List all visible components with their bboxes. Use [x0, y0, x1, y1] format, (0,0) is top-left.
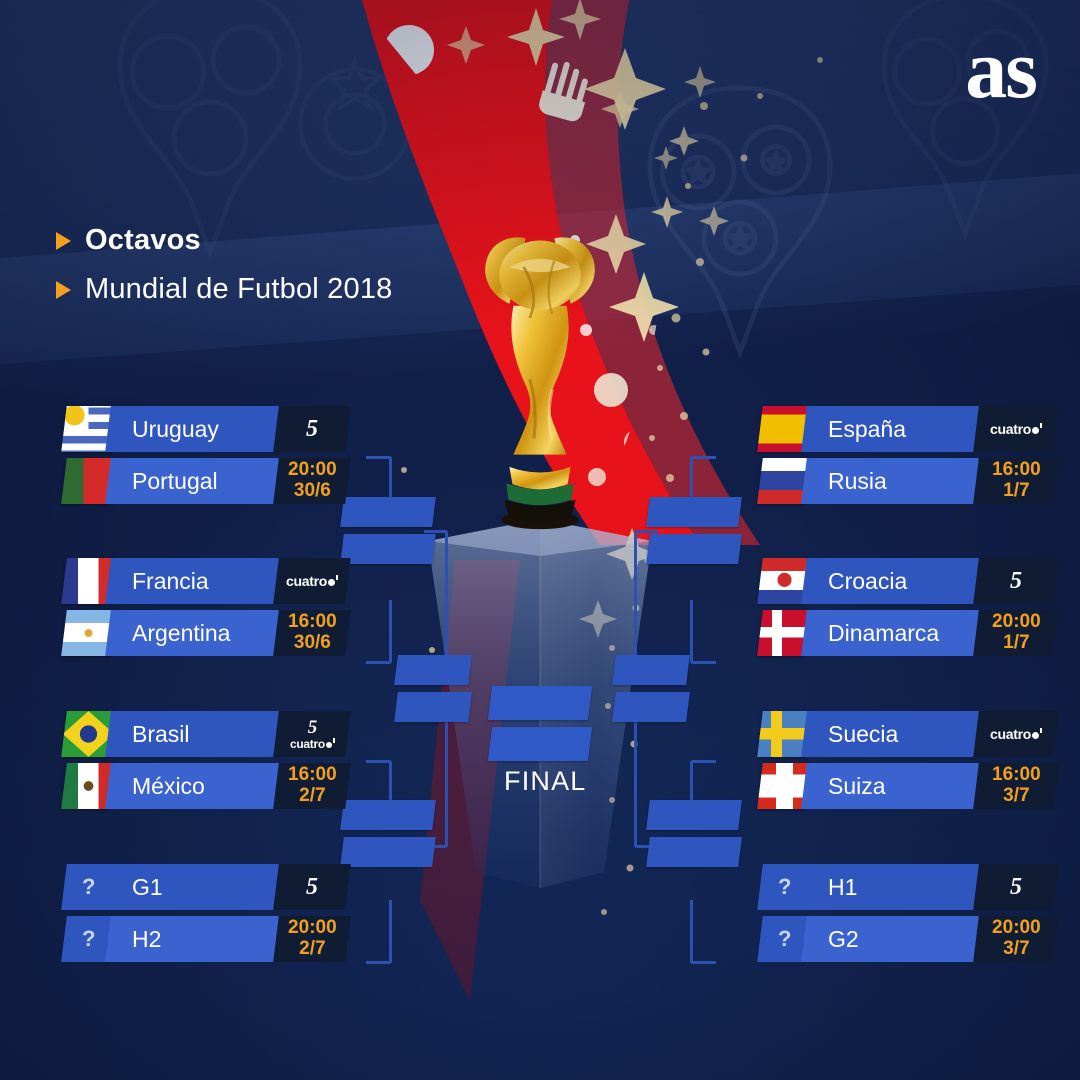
title-line-1-row: Octavos — [56, 224, 393, 257]
connector-r-qf1-bottom — [690, 600, 716, 664]
channel-box: 5 — [273, 864, 351, 910]
slot-bar-bottom — [394, 692, 472, 722]
team-row-bottom[interactable]: México 16:002/7 — [64, 763, 326, 809]
cuatro-logo-icon: cuatro — [990, 422, 1042, 436]
team-name: Rusia — [804, 458, 980, 504]
triangle-right-icon-2 — [56, 281, 71, 299]
kickoff-time: 20:00 — [288, 917, 337, 938]
team-name: España — [804, 406, 980, 452]
team-row-bottom[interactable]: Rusia 16:001/7 — [760, 458, 1022, 504]
telecinco-logo-icon: 5 — [1010, 569, 1022, 593]
team-row-bottom[interactable]: Portugal 20:0030/6 — [64, 458, 326, 504]
kickoff-time: 20:00 — [288, 459, 337, 480]
kickoff-time: 20:00 — [992, 611, 1041, 632]
title-octavos: Octavos — [85, 224, 201, 257]
connector-l-qf1-bottom — [366, 600, 392, 664]
kickoff-date: 1/7 — [1003, 480, 1029, 501]
quarterfinal-slot-right-2[interactable] — [648, 800, 740, 867]
team-name-box: Argentina — [105, 610, 287, 656]
kickoff-date: 2/7 — [299, 938, 325, 959]
team-name-box: H2 — [105, 916, 287, 962]
team-row-bottom[interactable]: ? H2 20:002/7 — [64, 916, 326, 962]
kickoff-time: 20:00 — [992, 917, 1041, 938]
team-row-top[interactable]: Francia cuatro — [64, 558, 326, 604]
kickoff-date: 3/7 — [1003, 938, 1029, 959]
team-name: Uruguay — [108, 406, 284, 452]
slot-bar-top — [340, 800, 436, 830]
team-name: Portugal — [108, 458, 284, 504]
page-title: Octavos Mundial de Futbol 2018 — [56, 224, 393, 306]
title-tournament: Mundial de Futbol 2018 — [85, 273, 393, 306]
slot-bar-top — [394, 655, 472, 685]
team-row-top[interactable]: España cuatro — [760, 406, 1022, 452]
team-name: G2 — [804, 916, 980, 962]
title-line-2-row: Mundial de Futbol 2018 — [56, 273, 393, 306]
slot-bar-bottom — [646, 534, 742, 564]
team-name-box: Suecia — [801, 711, 983, 757]
kickoff-time: 16:00 — [992, 459, 1041, 480]
team-name: H1 — [804, 864, 980, 910]
kickoff-date: 30/6 — [294, 480, 331, 501]
team-name: Croacia — [804, 558, 980, 604]
kickoff-box: 20:001/7 — [973, 610, 1059, 656]
team-name-box: G2 — [801, 916, 983, 962]
kickoff-box: 16:003/7 — [973, 763, 1059, 809]
team-name-box: Dinamarca — [801, 610, 983, 656]
match-espana-rusia[interactable]: España cuatro Rusia 16:001/7 — [760, 406, 1022, 510]
cuatro-logo-icon: cuatro — [290, 738, 335, 750]
kickoff-time: 16:00 — [288, 764, 337, 785]
slot-bar-top — [646, 800, 742, 830]
team-row-bottom[interactable]: ? G2 20:003/7 — [760, 916, 1022, 962]
kickoff-box: 20:002/7 — [273, 916, 351, 962]
semifinal-slot-left[interactable] — [396, 655, 470, 722]
team-row-top[interactable]: Suecia cuatro — [760, 711, 1022, 757]
team-name-box: Suiza — [801, 763, 983, 809]
telecinco-logo-icon: 5 — [306, 417, 318, 441]
match-suecia-suiza[interactable]: Suecia cuatro Suiza 16:003/7 — [760, 711, 1022, 815]
channel-box: 5 — [273, 406, 351, 452]
channel-box: 5 — [973, 558, 1059, 604]
team-name-box: Brasil — [105, 711, 287, 757]
team-name: Argentina — [108, 610, 284, 656]
team-name: Suiza — [804, 763, 980, 809]
quarterfinal-slot-right-1[interactable] — [648, 497, 740, 564]
kickoff-date: 2/7 — [299, 785, 325, 806]
team-row-top[interactable]: Brasil 5 cuatro — [64, 711, 326, 757]
team-name-box: México — [105, 763, 287, 809]
team-name-box: Portugal — [105, 458, 287, 504]
match-h1-g2[interactable]: ? H1 5 ? G2 20:003/7 — [760, 864, 1022, 968]
connector-l-qf2-bottom — [366, 900, 392, 964]
match-g1-h2[interactable]: ? G1 5 ? H2 20:002/7 — [64, 864, 326, 968]
cuatro-logo-icon: cuatro — [990, 727, 1042, 741]
kickoff-box: 16:001/7 — [973, 458, 1059, 504]
final-bar-top — [488, 686, 592, 720]
kickoff-date: 1/7 — [1003, 632, 1029, 653]
kickoff-time: 16:00 — [288, 611, 337, 632]
final-bar-bottom — [488, 727, 592, 761]
as-logo[interactable]: as — [965, 32, 1036, 108]
final-slot[interactable] — [490, 686, 590, 761]
kickoff-date: 3/7 — [1003, 785, 1029, 806]
team-row-top[interactable]: Uruguay 5 — [64, 406, 326, 452]
kickoff-time: 16:00 — [992, 764, 1041, 785]
team-name-box: España — [801, 406, 983, 452]
slot-bar-bottom — [612, 692, 690, 722]
team-name: México — [108, 763, 284, 809]
channel-box: cuatro — [973, 406, 1059, 452]
slot-bar-bottom — [646, 837, 742, 867]
team-name: Suecia — [804, 711, 980, 757]
team-row-top[interactable]: ? H1 5 — [760, 864, 1022, 910]
cuatro-logo-icon: cuatro — [286, 574, 338, 588]
slot-bar-bottom — [340, 837, 436, 867]
channel-box: 5 — [973, 864, 1059, 910]
team-row-top[interactable]: ? G1 5 — [64, 864, 326, 910]
infographic-canvas: Octavos Mundial de Futbol 2018 as — [0, 0, 1080, 1080]
team-name-box: G1 — [105, 864, 287, 910]
kickoff-box: 16:0030/6 — [273, 610, 351, 656]
channel-box: 5 cuatro — [273, 711, 351, 757]
team-name: Francia — [108, 558, 284, 604]
team-row-bottom[interactable]: Dinamarca 20:001/7 — [760, 610, 1022, 656]
slot-bar-top — [340, 497, 436, 527]
semifinal-slot-right[interactable] — [614, 655, 688, 722]
match-uruguay-portugal[interactable]: Uruguay 5 Portugal 20:0030/6 — [64, 406, 326, 510]
channel-box: cuatro — [273, 558, 351, 604]
slot-bar-top — [612, 655, 690, 685]
kickoff-box: 16:002/7 — [273, 763, 351, 809]
channel-box: cuatro — [973, 711, 1059, 757]
kickoff-box: 20:0030/6 — [273, 458, 351, 504]
match-croacia-dinamarca[interactable]: Croacia 5 Dinamarca 20:001/7 — [760, 558, 1022, 662]
match-francia-argentina[interactable]: Francia cuatro Argentina 16:0030/6 — [64, 558, 326, 662]
telecinco-logo-icon: 5 — [306, 875, 318, 899]
team-name: Dinamarca — [804, 610, 980, 656]
team-name: Brasil — [108, 711, 284, 757]
team-row-bottom[interactable]: Suiza 16:003/7 — [760, 763, 1022, 809]
kickoff-date: 30/6 — [294, 632, 331, 653]
final-label: FINAL — [504, 766, 587, 797]
team-name-box: Uruguay — [105, 406, 287, 452]
quarterfinal-slot-left-2[interactable] — [342, 800, 434, 867]
team-name-box: Rusia — [801, 458, 983, 504]
telecinco-logo-icon: 5 — [1010, 875, 1022, 899]
team-row-bottom[interactable]: Argentina 16:0030/6 — [64, 610, 326, 656]
quarterfinal-slot-left-1[interactable] — [342, 497, 434, 564]
team-name-box: Francia — [105, 558, 287, 604]
connector-r-qf2-bottom — [690, 900, 716, 964]
slot-bar-bottom — [340, 534, 436, 564]
telecinco-logo-icon: 5 — [290, 718, 335, 737]
team-name-box: H1 — [801, 864, 983, 910]
team-name-box: Croacia — [801, 558, 983, 604]
team-row-top[interactable]: Croacia 5 — [760, 558, 1022, 604]
team-name: G1 — [108, 864, 284, 910]
triangle-right-icon — [56, 232, 71, 250]
slot-bar-top — [646, 497, 742, 527]
match-brasil-mexico[interactable]: Brasil 5 cuatro México 16:002/7 — [64, 711, 326, 815]
team-name: H2 — [108, 916, 284, 962]
kickoff-box: 20:003/7 — [973, 916, 1059, 962]
